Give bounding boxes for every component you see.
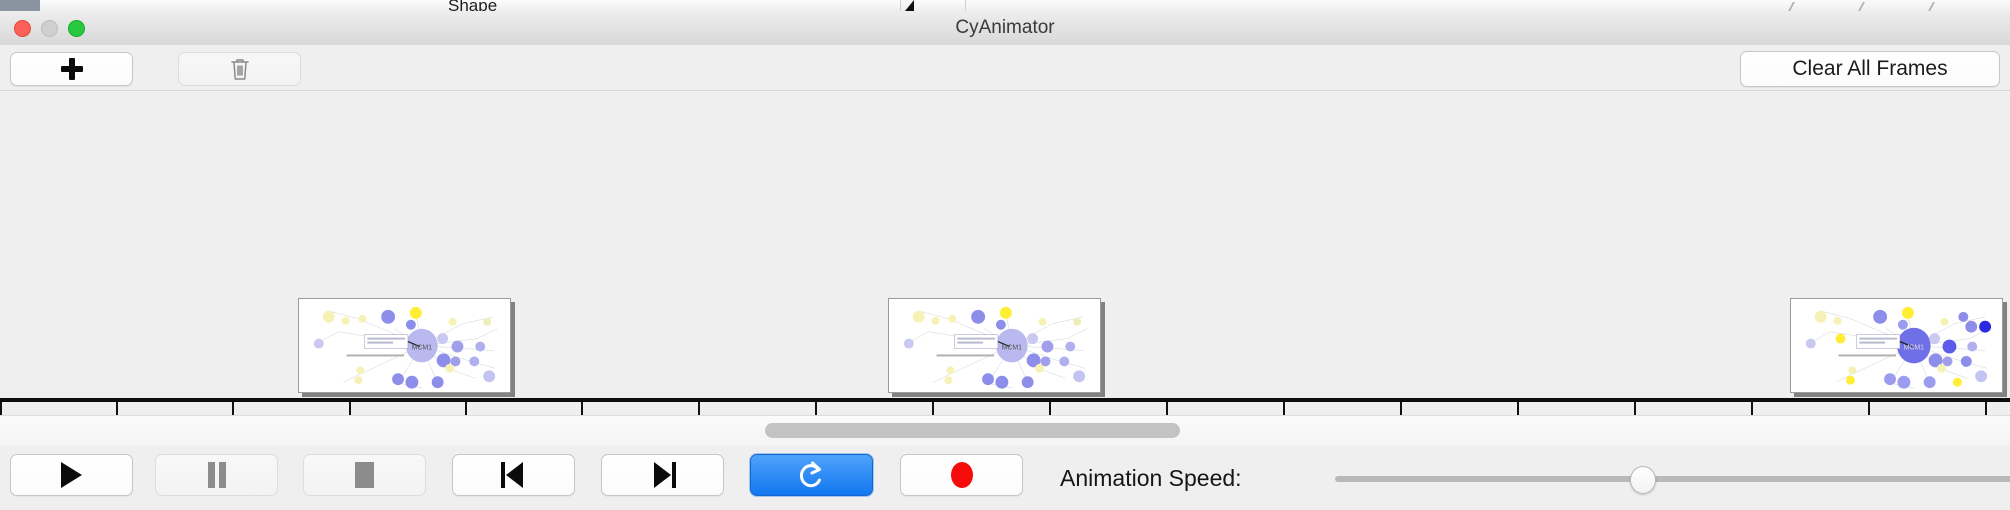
add-frame-button[interactable] [10, 52, 133, 86]
svg-text:MCM1: MCM1 [412, 345, 433, 352]
axis-tick-minor [1283, 402, 1285, 415]
pause-button[interactable] [155, 454, 278, 496]
skip-forward-icon [650, 462, 676, 488]
background-cell [160, 0, 221, 11]
timeline-panel[interactable]: MCM1 [0, 90, 2010, 415]
play-icon [61, 462, 82, 488]
axis-tick-minor [1049, 402, 1051, 415]
animation-speed-slider[interactable] [1335, 476, 2010, 482]
pause-icon [207, 462, 227, 488]
timeline-frame-thumbnail[interactable]: MCM1 [1790, 298, 2003, 393]
network-thumbnail-graph: MCM1 [1791, 299, 2002, 393]
stop-button[interactable] [303, 454, 426, 496]
skip-back-icon [501, 462, 527, 488]
axis-tick-major [1868, 402, 1870, 415]
timeline-top-divider [0, 90, 2010, 91]
record-icon [951, 462, 973, 488]
playback-bar: Animation Speed: [0, 446, 2010, 510]
plus-icon [61, 58, 83, 80]
axis-tick-major [1166, 402, 1168, 415]
axis-tick-major [232, 402, 234, 415]
title-bar: CyAnimator [0, 11, 2010, 46]
background-cell [40, 0, 161, 11]
axis-tick-minor [1751, 402, 1753, 415]
axis-tick-major [1634, 402, 1636, 415]
delete-frame-button[interactable] [178, 52, 301, 86]
axis-tick-major [1400, 402, 1402, 415]
next-frame-button[interactable] [601, 454, 724, 496]
frame-toolbar: Clear All Frames [0, 45, 2010, 91]
stop-icon [355, 462, 374, 488]
network-thumbnail-graph: MCM1 [299, 299, 510, 393]
axis-tick-major [698, 402, 700, 415]
clear-all-frames-button[interactable]: Clear All Frames [1740, 51, 2000, 87]
previous-frame-button[interactable] [452, 454, 575, 496]
svg-text:MCM1: MCM1 [1002, 345, 1023, 352]
play-button[interactable] [10, 454, 133, 496]
timeline-axis-line [0, 398, 2010, 402]
timeline-scrollbar[interactable] [0, 415, 2010, 447]
background-cell [220, 0, 266, 11]
record-button[interactable] [900, 454, 1023, 496]
trash-icon [230, 57, 250, 81]
axis-tick-major [465, 402, 467, 415]
background-cell [920, 0, 966, 11]
window-title: CyAnimator [0, 11, 2010, 45]
axis-tick-minor [1985, 402, 1987, 415]
scrollbar-thumb[interactable] [765, 423, 1180, 438]
cyanimator-window: Shape CyAnimator Clear All Frames [0, 0, 2010, 510]
animation-speed-slider-knob[interactable] [1630, 466, 1656, 494]
background-cell [520, 0, 901, 11]
svg-text:MCM1: MCM1 [1904, 345, 1925, 352]
background-cell [265, 0, 306, 11]
axis-tick-minor [116, 402, 118, 415]
axis-tick-minor [349, 402, 351, 415]
loop-icon [799, 461, 825, 489]
background-window-accent [0, 0, 40, 11]
axis-tick-major [0, 402, 2, 415]
timeline-frame-thumbnail[interactable]: MCM1 [298, 298, 511, 393]
background-cell [305, 0, 396, 11]
axis-tick-major [932, 402, 934, 415]
axis-tick-minor [1517, 402, 1519, 415]
background-marker [905, 0, 914, 11]
network-thumbnail-graph: MCM1 [889, 299, 1100, 393]
loop-button[interactable] [750, 454, 873, 496]
animation-speed-label: Animation Speed: [1060, 446, 1242, 510]
axis-tick-minor [815, 402, 817, 415]
axis-tick-minor [581, 402, 583, 415]
timeline-frame-thumbnail[interactable]: MCM1 [888, 298, 1101, 393]
